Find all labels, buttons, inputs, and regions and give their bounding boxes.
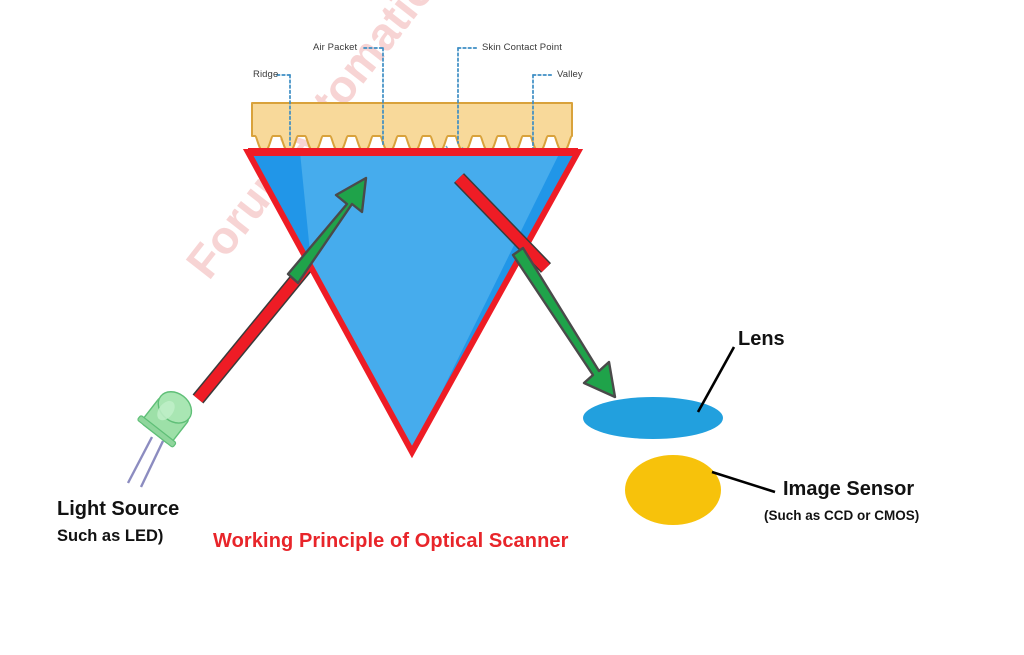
- lens-label: Lens: [738, 328, 785, 351]
- callout-skin-contact-point: Skin Contact Point: [482, 42, 562, 53]
- light-source-label: Light Source: [57, 498, 179, 521]
- callout-ridge: Ridge: [253, 69, 278, 80]
- led-light-source: [128, 385, 198, 487]
- light-source-sublabel: Such as LED): [57, 527, 163, 546]
- image-sensor-ellipse: [625, 455, 721, 525]
- triangular-prism: [248, 152, 578, 452]
- diagram-artwork: [0, 0, 1024, 655]
- image-sensor-leader-line: [712, 472, 775, 492]
- callout-valley: Valley: [557, 69, 583, 80]
- diagram-canvas: ForumAutomation.com: [0, 0, 1024, 655]
- callout-air-packet: Air Packet: [313, 42, 357, 53]
- image-sensor-sublabel: (Such as CCD or CMOS): [764, 508, 919, 523]
- lens-leader-line: [698, 347, 734, 412]
- finger-skin: [252, 103, 572, 152]
- image-sensor-label: Image Sensor: [783, 478, 914, 501]
- reflected-light-ray: [513, 248, 615, 397]
- diagram-title: Working Principle of Optical Scanner: [213, 530, 569, 553]
